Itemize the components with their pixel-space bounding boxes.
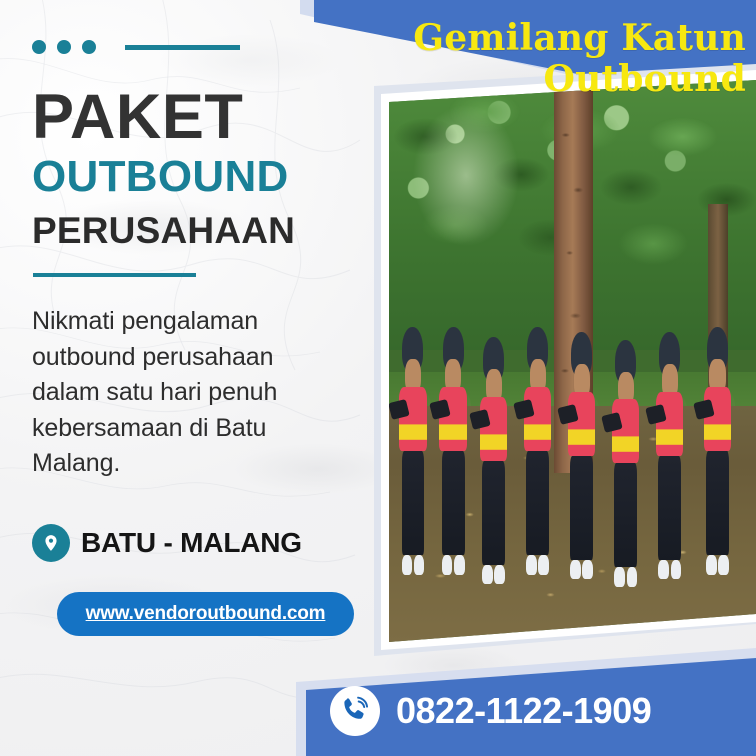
- phone-number: 0822-1122-1909: [396, 690, 651, 732]
- photo-participant: [517, 327, 557, 574]
- photo-participant: [561, 332, 601, 579]
- map-pin-icon: [32, 524, 70, 562]
- headline-divider: [33, 273, 196, 277]
- photo-participant: [473, 337, 513, 584]
- photo-participant: [650, 332, 690, 579]
- decor-dot-icon: [57, 40, 71, 54]
- headline-line-2: OUTBOUND: [32, 155, 289, 199]
- decor-dots-line: [32, 40, 240, 54]
- photo-highlight: [411, 102, 521, 248]
- poster-canvas: Gemilang Katun Outbound: [0, 0, 756, 756]
- brand-title: Gemilang Katun Outbound: [330, 18, 746, 100]
- location-label: BATU - MALANG: [81, 527, 302, 559]
- photo-participants: [389, 327, 756, 574]
- phone-call-icon: [330, 686, 380, 736]
- brand-title-line2: Outbound: [330, 59, 746, 100]
- location-row: BATU - MALANG: [32, 524, 302, 562]
- decor-rule: [125, 45, 240, 50]
- photo-participant: [433, 327, 473, 574]
- outbound-photo: [389, 80, 756, 642]
- website-button[interactable]: www.vendoroutbound.com: [57, 592, 354, 636]
- decor-dot-icon: [82, 40, 96, 54]
- photo-participant: [393, 327, 433, 574]
- photo-participant: [697, 327, 737, 574]
- description-text: Nikmati pengalaman outbound perusahaan d…: [32, 304, 344, 482]
- contact-row[interactable]: 0822-1122-1909: [330, 680, 750, 742]
- left-content-column: PAKET OUTBOUND PERUSAHAAN Nikmati pengal…: [32, 0, 352, 756]
- decor-dot-icon: [32, 40, 46, 54]
- headline-line-1: PAKET: [32, 86, 243, 149]
- photo-participant: [606, 340, 646, 587]
- headline-line-3: PERUSAHAAN: [32, 212, 295, 249]
- brand-title-line1: Gemilang Katun: [413, 17, 746, 59]
